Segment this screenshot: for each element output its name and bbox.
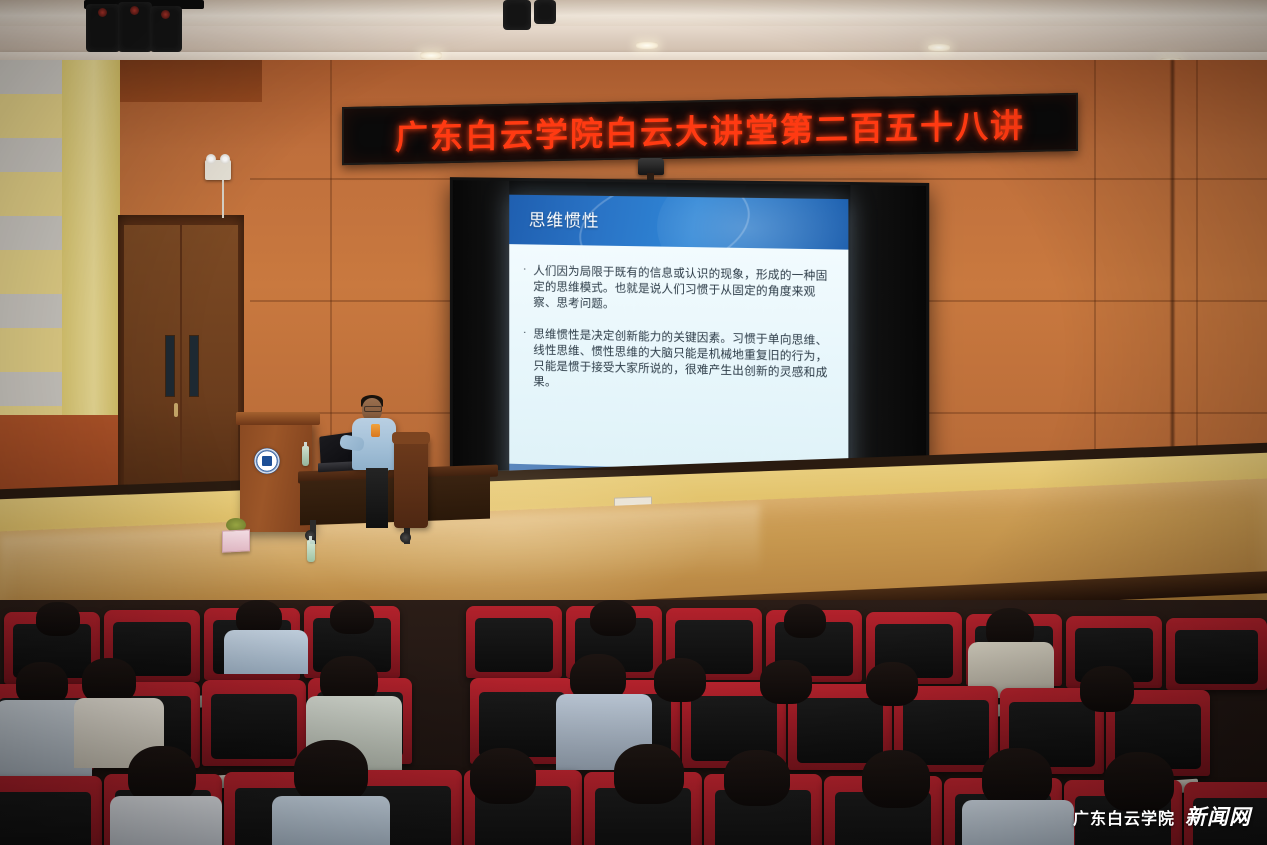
- slide-bullet-item: · 人们因为局限于既有的信息或认识的现象，形成的一种固定的思维模式。也就是说人们…: [523, 262, 832, 316]
- slide-header-band: 思维惯性: [509, 195, 848, 250]
- wall-seam: [330, 60, 332, 470]
- seat-pad: [797, 698, 882, 763]
- door-window: [189, 335, 199, 397]
- audience-member-head: [982, 748, 1052, 808]
- audience-member-head: [724, 750, 790, 806]
- downlight-icon: [928, 44, 950, 51]
- audience-member-head: [866, 662, 918, 706]
- water-bottle-icon: [302, 446, 309, 466]
- slide-bullet-text: 人们因为局限于既有的信息或认识的现象，形成的一种固定的思维模式。也就是说人们习惯…: [533, 262, 832, 316]
- presenter-chair: [394, 436, 428, 528]
- audience-member-head: [36, 602, 80, 636]
- door-handle-icon[interactable]: [174, 403, 178, 417]
- bullet-marker-icon: ·: [523, 262, 527, 310]
- presenter-chair-back: [392, 432, 430, 444]
- slide-surface: 思维惯性 · 人们因为局限于既有的信息或认识的现象，形成的一种固定的思维模式。也…: [509, 195, 848, 498]
- ceiling-projector-icon: [534, 0, 556, 24]
- audience-member-head: [614, 744, 684, 804]
- slide-bullet-text: 思维惯性是决定创新能力的关键因素。习惯于单向思维、线性思维、惯性思维的大脑只能是…: [533, 326, 832, 397]
- audience-member-head: [470, 748, 536, 804]
- podium-top: [236, 412, 320, 425]
- audience-member-body: [110, 796, 222, 845]
- audience-member-head: [760, 660, 812, 704]
- wall-pillar: [62, 60, 120, 475]
- audience-member-body: [962, 800, 1074, 845]
- watermark: 广东白云学院 新闻网: [1073, 801, 1251, 831]
- spotlight-lens-icon: [161, 10, 170, 19]
- stage-spotlight-icon: [86, 4, 120, 52]
- bullet-marker-icon: ·: [523, 326, 527, 389]
- downlight-icon: [420, 52, 442, 59]
- wall-seam: [1196, 60, 1198, 470]
- audience-member-head: [784, 604, 826, 638]
- emergency-light-cord: [222, 180, 224, 218]
- seat-pad: [479, 692, 564, 757]
- watermark-school-name: 广东白云学院: [1073, 805, 1175, 829]
- slide-bullet-item: · 思维惯性是决定创新能力的关键因素。习惯于单向思维、线性思维、惯性思维的大脑只…: [523, 326, 832, 397]
- seat-pad: [0, 792, 91, 845]
- ceiling-camera-icon: [638, 158, 664, 175]
- audience-member-head: [294, 740, 368, 804]
- spotlight-lens-icon: [130, 6, 139, 15]
- seat-pad: [211, 694, 296, 759]
- floor-water-bottle-icon: [307, 540, 315, 562]
- auditorium-seat[interactable]: [202, 680, 306, 766]
- school-emblem-icon: [254, 448, 280, 474]
- seat-pad: [475, 618, 554, 673]
- audience-member-head: [654, 658, 706, 702]
- lecture-hall-photo: 广东白云学院白云大讲堂第二百五十八讲 思维惯性 · 人们因为局限于既有的信息或认…: [0, 0, 1267, 845]
- seat-pad: [1175, 630, 1258, 685]
- auditorium-seat[interactable]: [0, 776, 102, 845]
- emergency-light-icon: [205, 160, 231, 180]
- stage-spotlight-icon: [118, 2, 152, 52]
- guest-ribbon-icon: [371, 424, 380, 437]
- door-leaf-left[interactable]: [124, 225, 180, 520]
- door-header-beam: [112, 60, 262, 102]
- downlight-icon: [636, 42, 658, 49]
- door-leaf-right[interactable]: [182, 225, 238, 520]
- ceiling-projector-icon: [503, 0, 531, 30]
- speaker-legs: [366, 468, 388, 528]
- stage-spotlight-icon: [150, 6, 182, 52]
- wall-pipe: [1170, 60, 1175, 470]
- audience-member-head: [330, 600, 374, 634]
- audience-member-body: [272, 796, 390, 845]
- glasses-icon: [364, 406, 382, 412]
- audience-member-body: [224, 630, 308, 674]
- door-window: [165, 335, 175, 397]
- audience-member-head: [862, 750, 930, 808]
- spotlight-lens-icon: [98, 8, 107, 17]
- name-placard: [222, 529, 250, 552]
- auditorium-seat[interactable]: [466, 606, 562, 678]
- ceiling: [0, 0, 1267, 60]
- table-caster-icon: [400, 532, 411, 543]
- wall-seam: [250, 178, 1267, 180]
- wall-seam: [1094, 60, 1096, 470]
- screen-border-left: [453, 180, 509, 511]
- banner-text: 广东白云学院白云大讲堂第二百五十八讲: [395, 99, 1025, 159]
- hall-door[interactable]: [118, 215, 244, 520]
- auditorium-seat[interactable]: [1166, 618, 1267, 690]
- audience-member-head: [590, 600, 636, 636]
- slide-body: · 人们因为局限于既有的信息或认识的现象，形成的一种固定的思维模式。也就是说人们…: [509, 244, 848, 474]
- slide-title: 思维惯性: [529, 206, 600, 232]
- watermark-site-name: 新闻网: [1185, 801, 1251, 831]
- audience-member-head: [1080, 666, 1134, 712]
